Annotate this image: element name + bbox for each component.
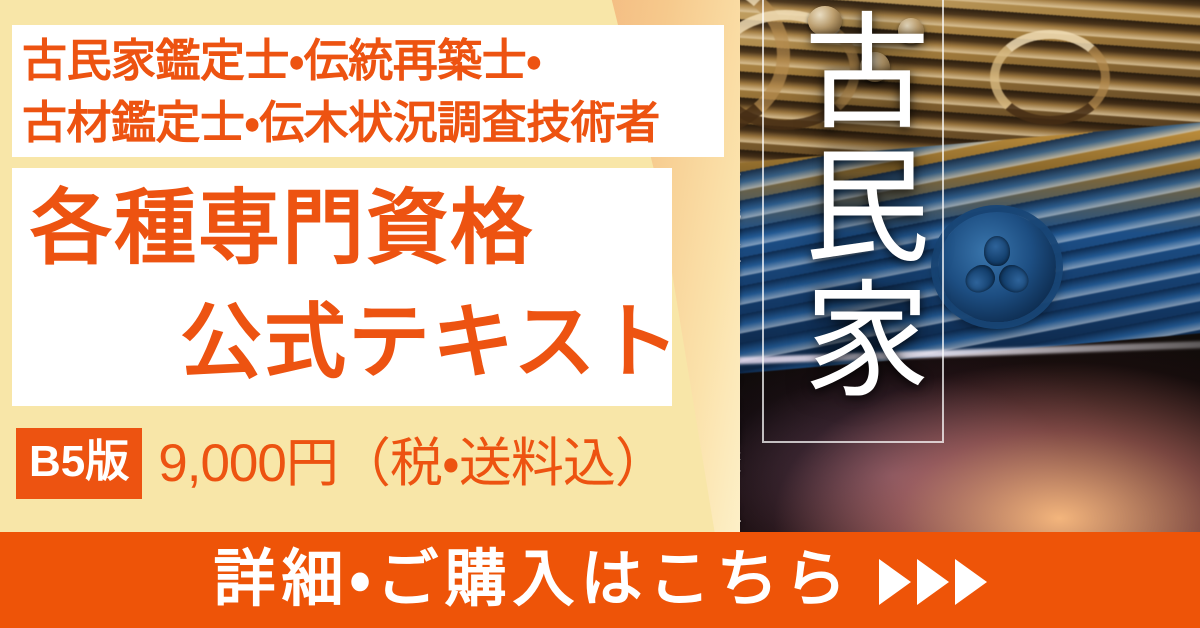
play-arrow-icon	[879, 559, 911, 605]
qualifications-line-2: 古材鑑定士・伝木状況調査技術者	[12, 92, 724, 154]
price-row: B5版 9,000円（税・送料込）	[16, 428, 667, 499]
play-arrow-icon	[955, 559, 987, 605]
cta-arrows	[879, 559, 987, 605]
headline-box: 各種専門資格 公式テキスト	[12, 168, 672, 406]
crest-icon	[968, 238, 1026, 296]
price-amount: 9,000円（税・送料込）	[158, 437, 667, 490]
cover-title: 古民家	[778, 6, 928, 408]
headline-line-1: 各種専門資格	[12, 168, 672, 286]
qualifications-box: 古民家鑑定士・伝統再築士・ 古材鑑定士・伝木状況調査技術者	[12, 25, 724, 157]
promo-banner: 伝統構法 古民家活用のための調査と再生の 古民家 古民家鑑定士・伝統再築士・ 古…	[0, 0, 1200, 628]
carved-swirl-icon	[990, 30, 1110, 125]
cta-bar[interactable]: 詳細・ご購入はこちら	[0, 532, 1200, 628]
play-arrow-icon	[917, 559, 949, 605]
format-badge: B5版	[16, 428, 142, 499]
headline-line-2: 公式テキスト	[12, 286, 672, 400]
family-crest-medallion	[938, 212, 1056, 322]
cta-label: 詳細・ご購入はこちら	[213, 549, 852, 611]
qualifications-line-1: 古民家鑑定士・伝統再築士・	[12, 25, 724, 92]
